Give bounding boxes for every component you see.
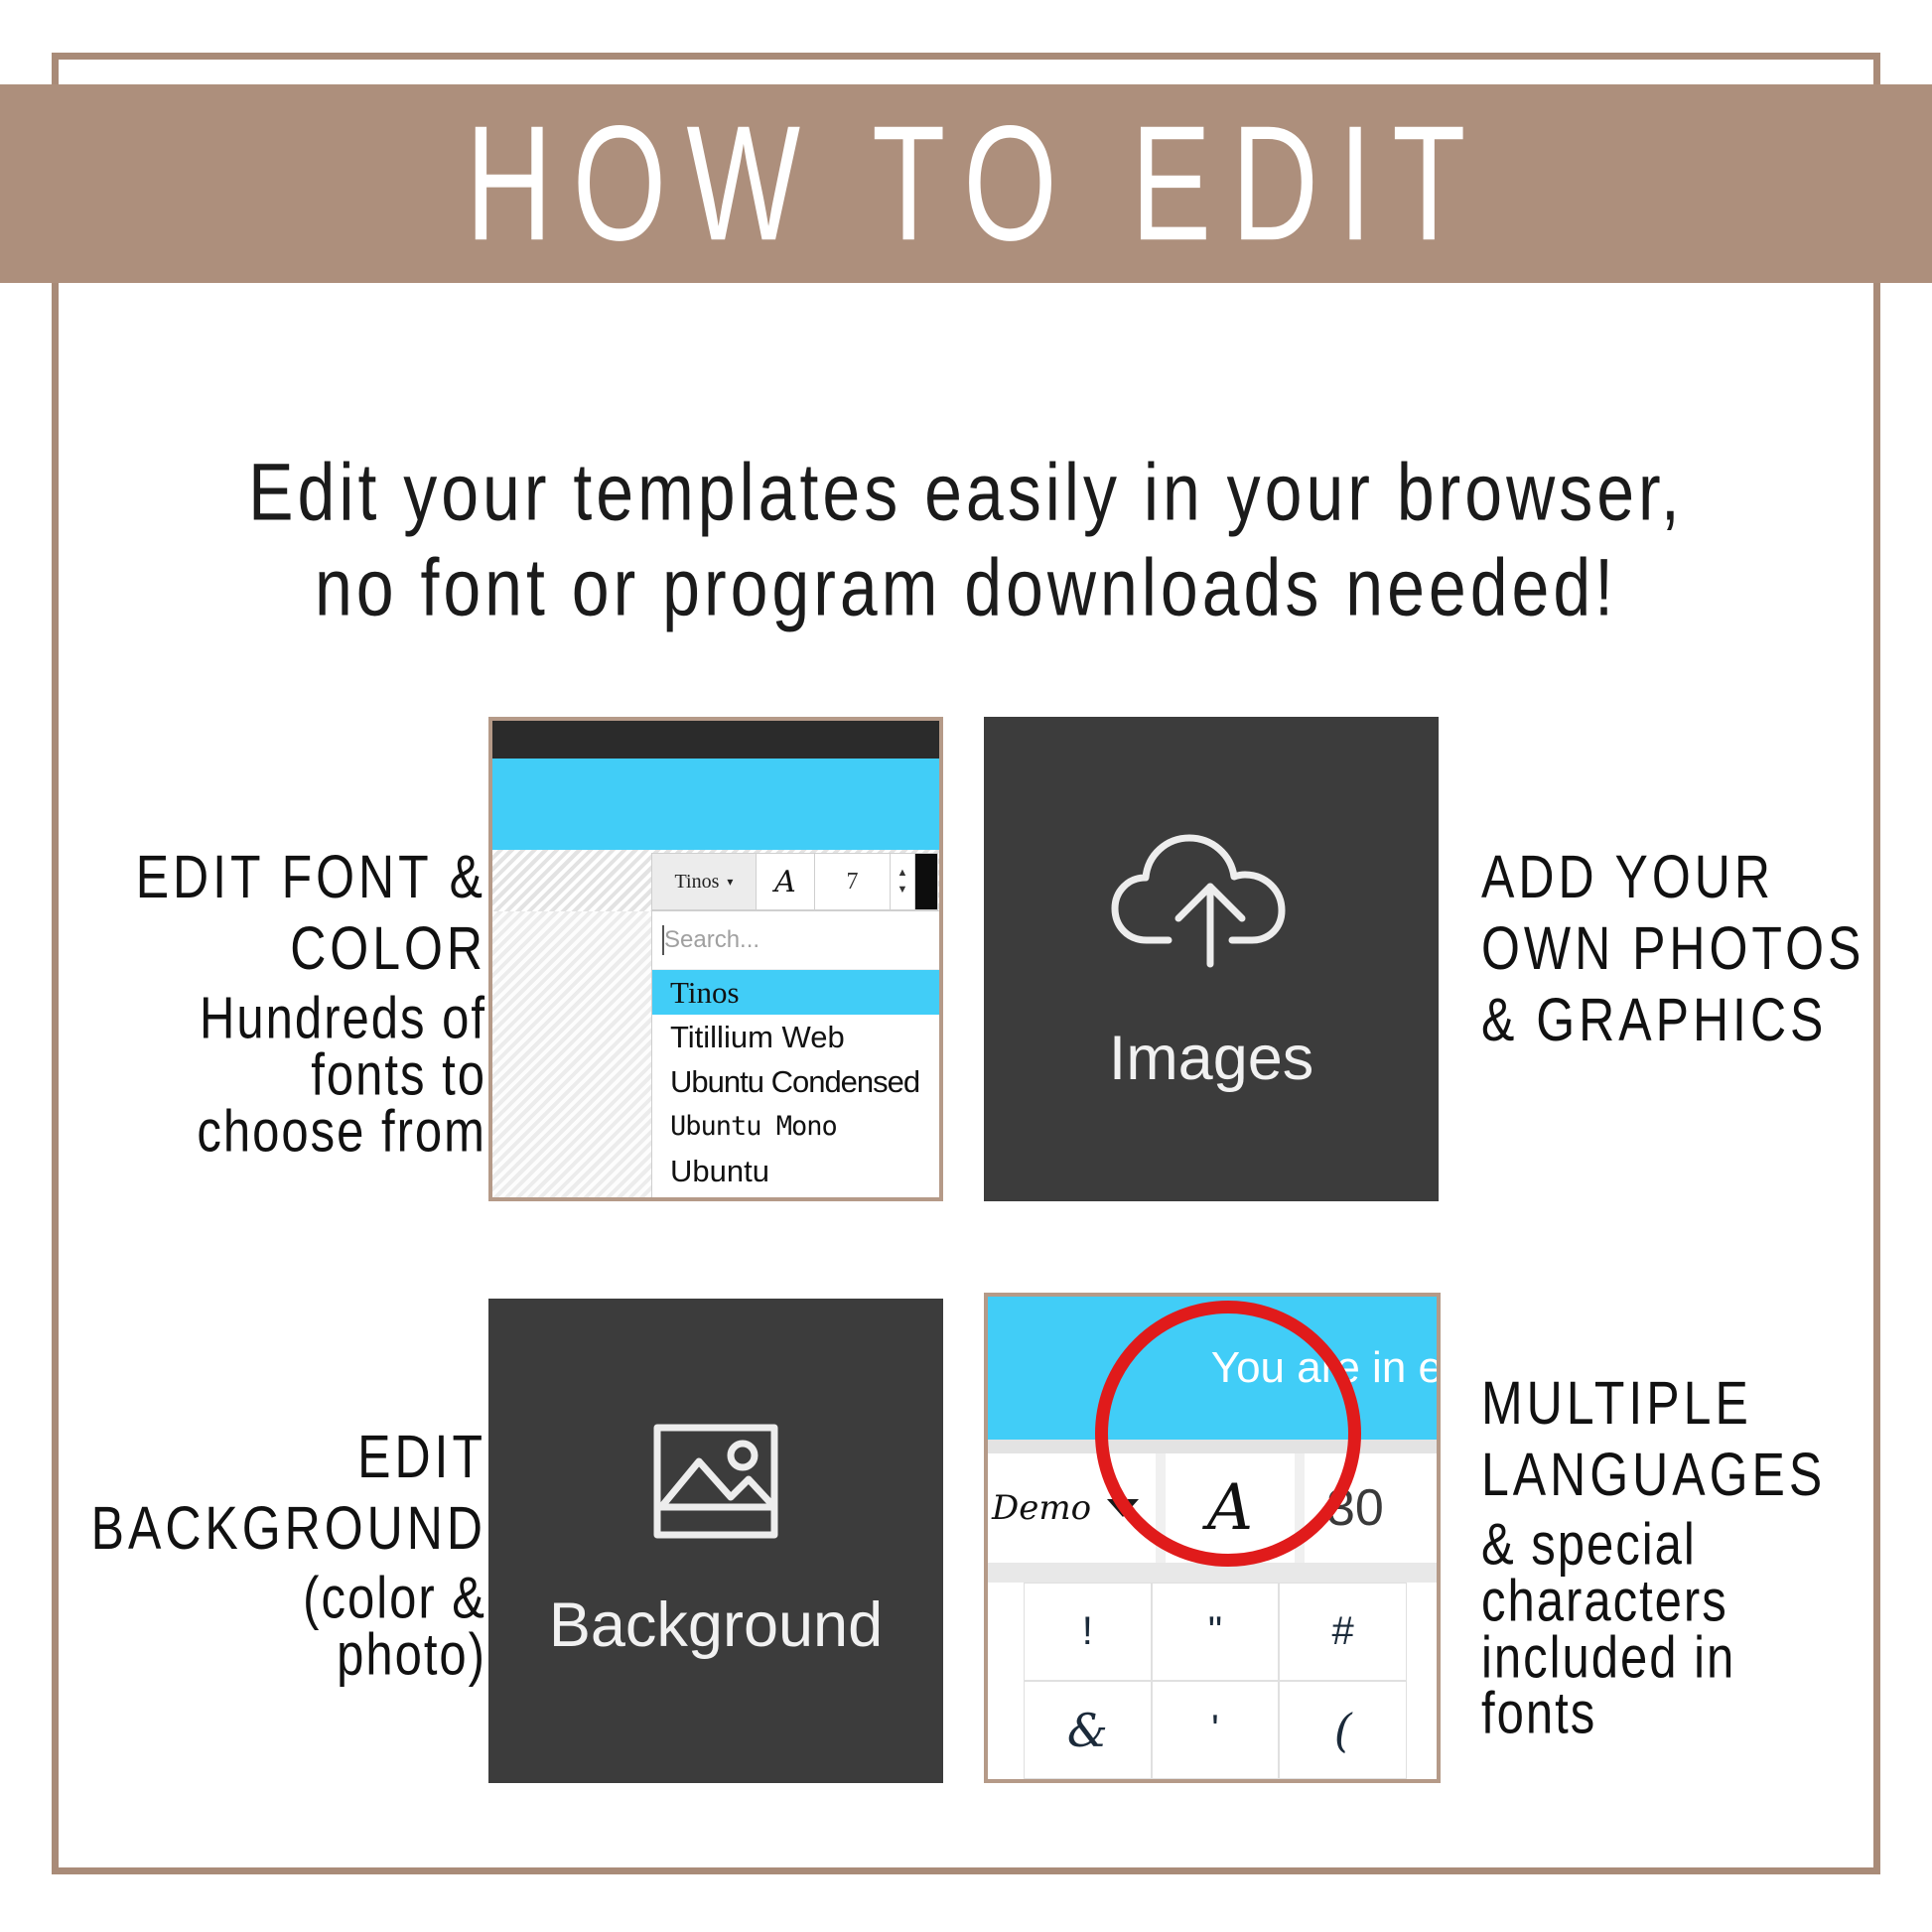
toolbar-divider — [988, 1440, 1437, 1453]
glyph-font-size-input[interactable]: 30 — [1305, 1453, 1437, 1563]
font-family-value: Tinos — [675, 871, 720, 894]
grid-header-cell — [1407, 1563, 1437, 1583]
glyph-editor-banner-text: You are in e — [1211, 1343, 1441, 1393]
caption-heading-line-2: COLOR — [60, 913, 486, 984]
spinner-down-icon[interactable]: ▼ — [897, 885, 908, 896]
glyph-cell[interactable]: ( — [1279, 1681, 1407, 1779]
font-search-placeholder: Search... — [664, 926, 759, 954]
caption-add-photos: ADD YOUR OWN PHOTOS & GRAPHICS — [1481, 842, 1908, 1056]
caption-multiple-languages: MULTIPLE LANGUAGES & special characters … — [1481, 1368, 1908, 1736]
spinner-up-icon[interactable]: ▲ — [897, 868, 908, 879]
intro-line-2: no font or program downloads needed! — [119, 540, 1813, 635]
text-color-swatch[interactable] — [915, 853, 938, 910]
glyph-char: # — [1332, 1609, 1354, 1654]
script-a-icon: A — [774, 865, 796, 899]
caption-heading-line-2: LANGUAGES — [1481, 1440, 1908, 1510]
caption-heading-line-1: EDIT FONT & — [60, 842, 486, 912]
font-family-select[interactable]: Tinos ▾ — [651, 853, 757, 910]
caption-edit-font-color: EDIT FONT & COLOR Hundreds of fonts to c… — [60, 842, 486, 1154]
caption-heading-line-1: EDIT — [40, 1422, 486, 1492]
text-toolbar: Tinos ▾ A 7 ▲ ▼ — [651, 853, 943, 910]
intro-paragraph: Edit your templates easily in your brows… — [119, 445, 1813, 636]
glyph-cell[interactable]: & — [1024, 1681, 1152, 1779]
font-option-ubuntu[interactable]: Ubuntu — [652, 1149, 943, 1193]
caption-heading-line-1: MULTIPLE — [1481, 1368, 1908, 1439]
font-option-ubuntu-mono[interactable]: Ubuntu Mono — [652, 1104, 943, 1149]
caption-heading-line-3: & GRAPHICS — [1481, 985, 1908, 1055]
background-tile-label: Background — [549, 1589, 883, 1661]
screenshot-font-editor: Tinos ▾ A 7 ▲ ▼ Search... Tinos — [488, 717, 943, 1201]
chevron-down-icon: ▾ — [727, 876, 733, 888]
caption-sub-line-2: photo) — [40, 1621, 486, 1690]
glyph-editor-cyan-header: You are in e — [988, 1297, 1437, 1440]
glyph-char: " — [1208, 1609, 1222, 1654]
grid-header-cell — [1152, 1563, 1280, 1583]
glyph-font-size-value: 30 — [1326, 1478, 1384, 1538]
chevron-down-icon — [1107, 1499, 1139, 1517]
caption-sub-line-4: fonts — [1481, 1680, 1908, 1748]
font-option-label: Ubuntu Mono — [670, 1111, 837, 1142]
font-search-input[interactable]: Search... — [652, 911, 943, 970]
picture-icon — [651, 1422, 780, 1546]
grid-header-cell — [1279, 1563, 1407, 1583]
caption-sub-line-3: choose from — [60, 1098, 486, 1167]
page-title: HOW TO EDIT — [446, 102, 1486, 266]
glyph-char: ! — [1082, 1609, 1093, 1654]
caption-heading-line-2: OWN PHOTOS — [1481, 913, 1908, 984]
character-grid: ! " # & ' ( — [988, 1563, 1437, 1779]
cloud-upload-icon — [1107, 825, 1315, 979]
glyph-char: ( — [1334, 1704, 1352, 1757]
glyph-cell[interactable]: ! — [1024, 1583, 1152, 1681]
glyph-cell[interactable]: ' — [1152, 1681, 1280, 1779]
grid-spacer — [988, 1583, 1024, 1681]
demo-font-label: Demo — [992, 1488, 1091, 1528]
font-size-stepper[interactable]: ▲ ▼ — [891, 853, 915, 910]
glyph-toolbar: Demo A 30 — [988, 1453, 1437, 1563]
font-style-button[interactable]: A — [757, 853, 815, 910]
text-cursor-icon — [662, 925, 664, 955]
font-size-input[interactable]: 7 — [815, 853, 891, 910]
poster-root: HOW TO EDIT Edit your templates easily i… — [0, 0, 1932, 1932]
glyph-cell[interactable]: # — [1279, 1583, 1407, 1681]
grid-spacer — [1407, 1583, 1437, 1681]
caption-heading-line-1: ADD YOUR — [1481, 842, 1908, 912]
grid-header-cell — [1024, 1563, 1152, 1583]
font-option-label: Ubuntu Condensed — [670, 1064, 919, 1100]
font-size-value: 7 — [847, 869, 859, 896]
caption-edit-background: EDIT BACKGROUND (color & photo) — [40, 1422, 486, 1678]
glyph-char: ' — [1211, 1708, 1219, 1752]
images-tile-label: Images — [1109, 1023, 1314, 1094]
header-banner: HOW TO EDIT — [0, 84, 1932, 283]
script-a-icon: A — [1207, 1471, 1253, 1545]
screenshot-images-tile[interactable]: Images — [984, 717, 1439, 1201]
font-dropdown-panel: Search... Tinos Titillium Web Ubuntu Con… — [651, 910, 943, 1200]
screenshot-background-tile[interactable]: Background — [488, 1299, 943, 1783]
grid-spacer — [1407, 1681, 1437, 1779]
editor-cyan-header — [492, 759, 939, 850]
font-option-label: Titillium Web — [670, 1020, 845, 1055]
editor-top-bar — [492, 721, 939, 759]
grid-header-cell — [988, 1563, 1024, 1583]
font-option-label: Ubuntu — [670, 1154, 769, 1189]
font-option-ubuntu-condensed[interactable]: Ubuntu Condensed — [652, 1059, 943, 1104]
font-option-titillium-web[interactable]: Titillium Web — [652, 1015, 943, 1059]
grid-spacer — [988, 1681, 1024, 1779]
caption-heading-line-2: BACKGROUND — [40, 1493, 486, 1564]
glyph-cell[interactable]: " — [1152, 1583, 1280, 1681]
demo-font-select[interactable]: Demo — [988, 1453, 1166, 1563]
glyph-style-button[interactable]: A — [1166, 1453, 1305, 1563]
intro-line-1: Edit your templates easily in your brows… — [119, 445, 1813, 540]
screenshot-glyph-map: You are in e Demo A 30 ! " # — [984, 1293, 1441, 1783]
glyph-char: & — [1067, 1704, 1108, 1757]
font-option-label: Tinos — [670, 975, 740, 1011]
font-option-tinos[interactable]: Tinos — [652, 970, 943, 1015]
